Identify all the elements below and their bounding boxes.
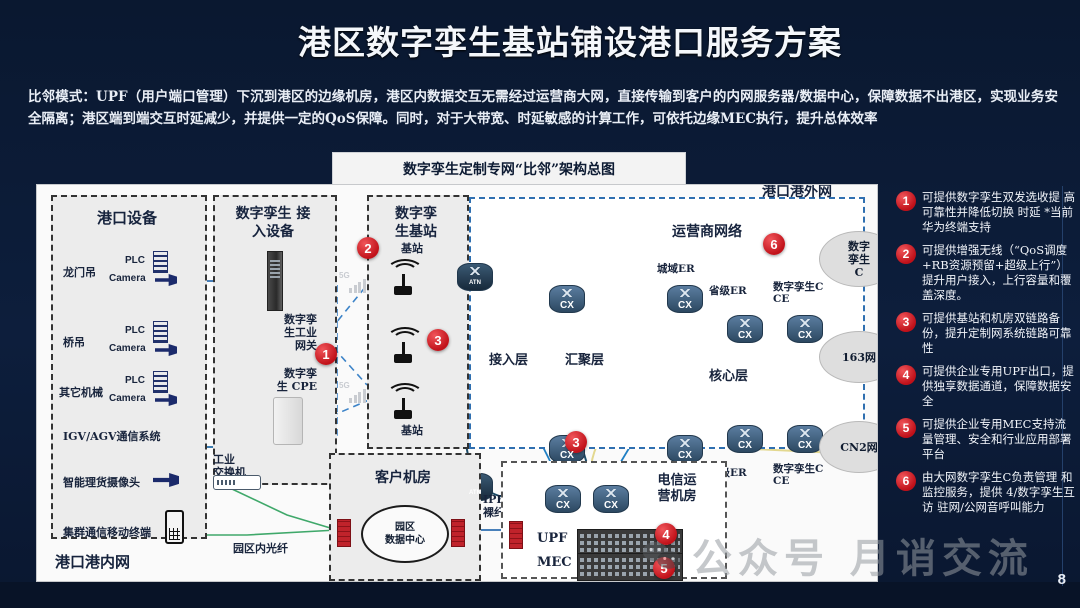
router-label: CX	[560, 450, 574, 462]
layer-access-label: 接入层	[489, 355, 528, 367]
architecture-diagram-panel: 港口设备 龙门吊 PLC Camera 桥吊 PLC Camera 其它机械 P…	[36, 184, 878, 582]
inline-badge-4: 4	[655, 523, 677, 545]
inline-badge-5: 5	[653, 557, 675, 579]
router-label: ATN	[469, 278, 481, 290]
equipment-row-0-name: 龙门吊	[63, 267, 96, 279]
layer-core-label: 核心层	[709, 371, 748, 383]
equipment-row-1-camera: Camera	[109, 343, 146, 355]
note-text: 可提供企业专用UPF出口，提供独享数据通道，保障数据安全	[922, 364, 1076, 409]
note-text: 可提供企业专用MEC支持流量管理、安全和行业应用部署平台	[922, 417, 1076, 462]
telecom-router-cx: CX	[545, 485, 581, 513]
base-station-bottom-label: 基站	[401, 425, 423, 437]
equipment-row-2-plc: PLC	[125, 375, 145, 387]
cpe-icon	[273, 397, 303, 445]
campus-fiber-label: 园区内光纤	[233, 543, 288, 555]
base-station-antenna-icon	[383, 383, 423, 419]
zone-customer-room-title: 客户机房	[329, 467, 477, 487]
cloud-campus-datacenter: 园区 数据中心	[361, 505, 449, 563]
page-title: 港区数字孪生基站铺设港口服务方案	[250, 22, 890, 64]
smart-camera-label: 智能理货摄像头	[63, 477, 140, 489]
page-number: 8	[1058, 571, 1066, 588]
equipment-row-0-camera: Camera	[109, 273, 146, 285]
inline-badge-2: 2	[357, 237, 379, 259]
plc-icon	[153, 251, 168, 273]
aggregation-router-cx: CX	[549, 285, 585, 313]
twin-c-ce-label: 数字孪生C CE	[773, 463, 835, 487]
router-label: CX	[556, 500, 570, 512]
note-text: 可提供数字孪生双发选收提 高可靠性并降低切换 时延 *当前华为终端支持	[922, 190, 1076, 235]
note-badge: 2	[896, 244, 916, 264]
twin-c-ce-router-cx: CX	[787, 425, 823, 453]
mec-label: MEC	[537, 557, 572, 569]
note-item: 4 可提供企业专用UPF出口，提供独享数据通道，保障数据安全	[896, 364, 1076, 409]
firewall-icon	[509, 521, 523, 549]
twin-c-ce-router-cx: CX	[787, 315, 823, 343]
base-station-antenna-icon	[383, 259, 423, 295]
zone-base-station-title: 数字孪 生基站	[367, 205, 465, 241]
note-text: 可提供增强无线（“QoS调度+RB资源预留+超级上行”）提升用户接入，上行容量和…	[922, 243, 1076, 303]
metro-er-router-cx: CX	[667, 285, 703, 313]
note-badge: 4	[896, 365, 916, 385]
province-er-label: 省级ER	[709, 285, 747, 297]
metro-er-label: 城域ER	[657, 263, 695, 275]
router-label: CX	[738, 440, 752, 452]
note-text: 由大网数字孪生C负责管理 和监控服务，提供 4/数字孪生互访 驻网/公网音呼叫能…	[922, 470, 1076, 515]
note-item: 1 可提供数字孪生双发选收提 高可靠性并降低切换 时延 *当前华为终端支持	[896, 190, 1076, 235]
trunk-terminal-label: 集群通信移动终端	[63, 527, 151, 539]
zone-carrier-network-title: 运营商网络	[637, 221, 777, 241]
igv-agv-label: IGV/AGV通信系统	[63, 431, 161, 443]
router-label: CX	[560, 300, 574, 312]
router-label: CX	[798, 440, 812, 452]
router-label: ATN	[469, 488, 481, 500]
inline-badge-3: 3	[427, 329, 449, 351]
industrial-switch-icon	[213, 475, 261, 490]
note-badge: 1	[896, 191, 916, 211]
notes-list: 1 可提供数字孪生双发选收提 高可靠性并降低切换 时延 *当前华为终端支持 2 …	[896, 190, 1076, 523]
note-badge: 3	[896, 312, 916, 332]
cpe-label: 数字孪 生 CPE	[247, 367, 317, 393]
inline-badge-6: 6	[763, 233, 785, 255]
telecom-router-cx: CX	[593, 485, 629, 513]
province-er-router-cx: CX	[727, 315, 763, 343]
router-label: CX	[738, 330, 752, 342]
equipment-row-1-plc: PLC	[125, 325, 145, 337]
zone-port-equipment-title: 港口设备	[51, 207, 203, 228]
note-badge: 6	[896, 471, 916, 491]
router-label: CX	[678, 450, 692, 462]
firewall-icon	[337, 519, 351, 547]
twin-c-ce-label: 数字孪生C CE	[773, 281, 835, 305]
inner-net-title: 港口港内网	[55, 551, 195, 572]
equipment-row-2-name: 其它机械	[59, 387, 103, 399]
note-item: 3 可提供基站和机房双链路备份，提升定制网系统链路可靠性	[896, 311, 1076, 356]
base-station-top-label: 基站	[401, 243, 423, 255]
access-router-atn: ATN	[457, 263, 493, 291]
zone-access-device-title: 数字孪生 接 入设备	[213, 205, 333, 241]
equipment-row-1-name: 桥吊	[63, 337, 85, 349]
zone-telecom-room-title: 电信运 营机房	[637, 473, 717, 505]
layer-aggregation-label: 汇聚层	[565, 355, 604, 367]
outer-net-title: 港口港外网	[727, 184, 867, 201]
equipment-row-0-plc: PLC	[125, 255, 145, 267]
equipment-row-2-camera: Camera	[109, 393, 146, 405]
gateway-label: 数字孪 生工业 网关	[253, 313, 317, 352]
note-item: 5 可提供企业专用MEC支持流量管理、安全和行业应用部署平台	[896, 417, 1076, 462]
note-item: 6 由大网数字孪生C负责管理 和监控服务，提供 4/数字孪生互访 驻网/公网音呼…	[896, 470, 1076, 515]
router-label: CX	[678, 300, 692, 312]
inline-badge-1: 1	[315, 343, 337, 365]
subtitle-paragraph: 比邻模式：UPF（用户端口管理）下沉到港区的边缘机房，港区内数据交互无需经过运营…	[28, 86, 1058, 130]
plc-icon	[153, 371, 168, 393]
note-badge: 5	[896, 418, 916, 438]
firewall-icon	[451, 519, 465, 547]
note-text: 可提供基站和机房双链路备份，提升定制网系统链路可靠性	[922, 311, 1076, 356]
metro-er-router-cx: CX	[667, 435, 703, 463]
router-label: CX	[604, 500, 618, 512]
note-item: 2 可提供增强无线（“QoS调度+RB资源预留+超级上行”）提升用户接入，上行容…	[896, 243, 1076, 303]
slide-canvas: 港区数字孪生基站铺设港口服务方案 比邻模式：UPF（用户端口管理）下沉到港区的边…	[0, 0, 1080, 608]
router-label: CX	[798, 330, 812, 342]
diagram-banner-title: 数字孪生定制专网“比邻”架构总图	[332, 152, 686, 186]
upf-label: UPF	[537, 533, 567, 545]
base-station-antenna-icon	[383, 327, 423, 363]
handheld-radio-icon	[165, 510, 184, 544]
plc-icon	[153, 321, 168, 343]
industrial-gateway-icon	[267, 251, 283, 311]
province-er-router-cx: CX	[727, 425, 763, 453]
